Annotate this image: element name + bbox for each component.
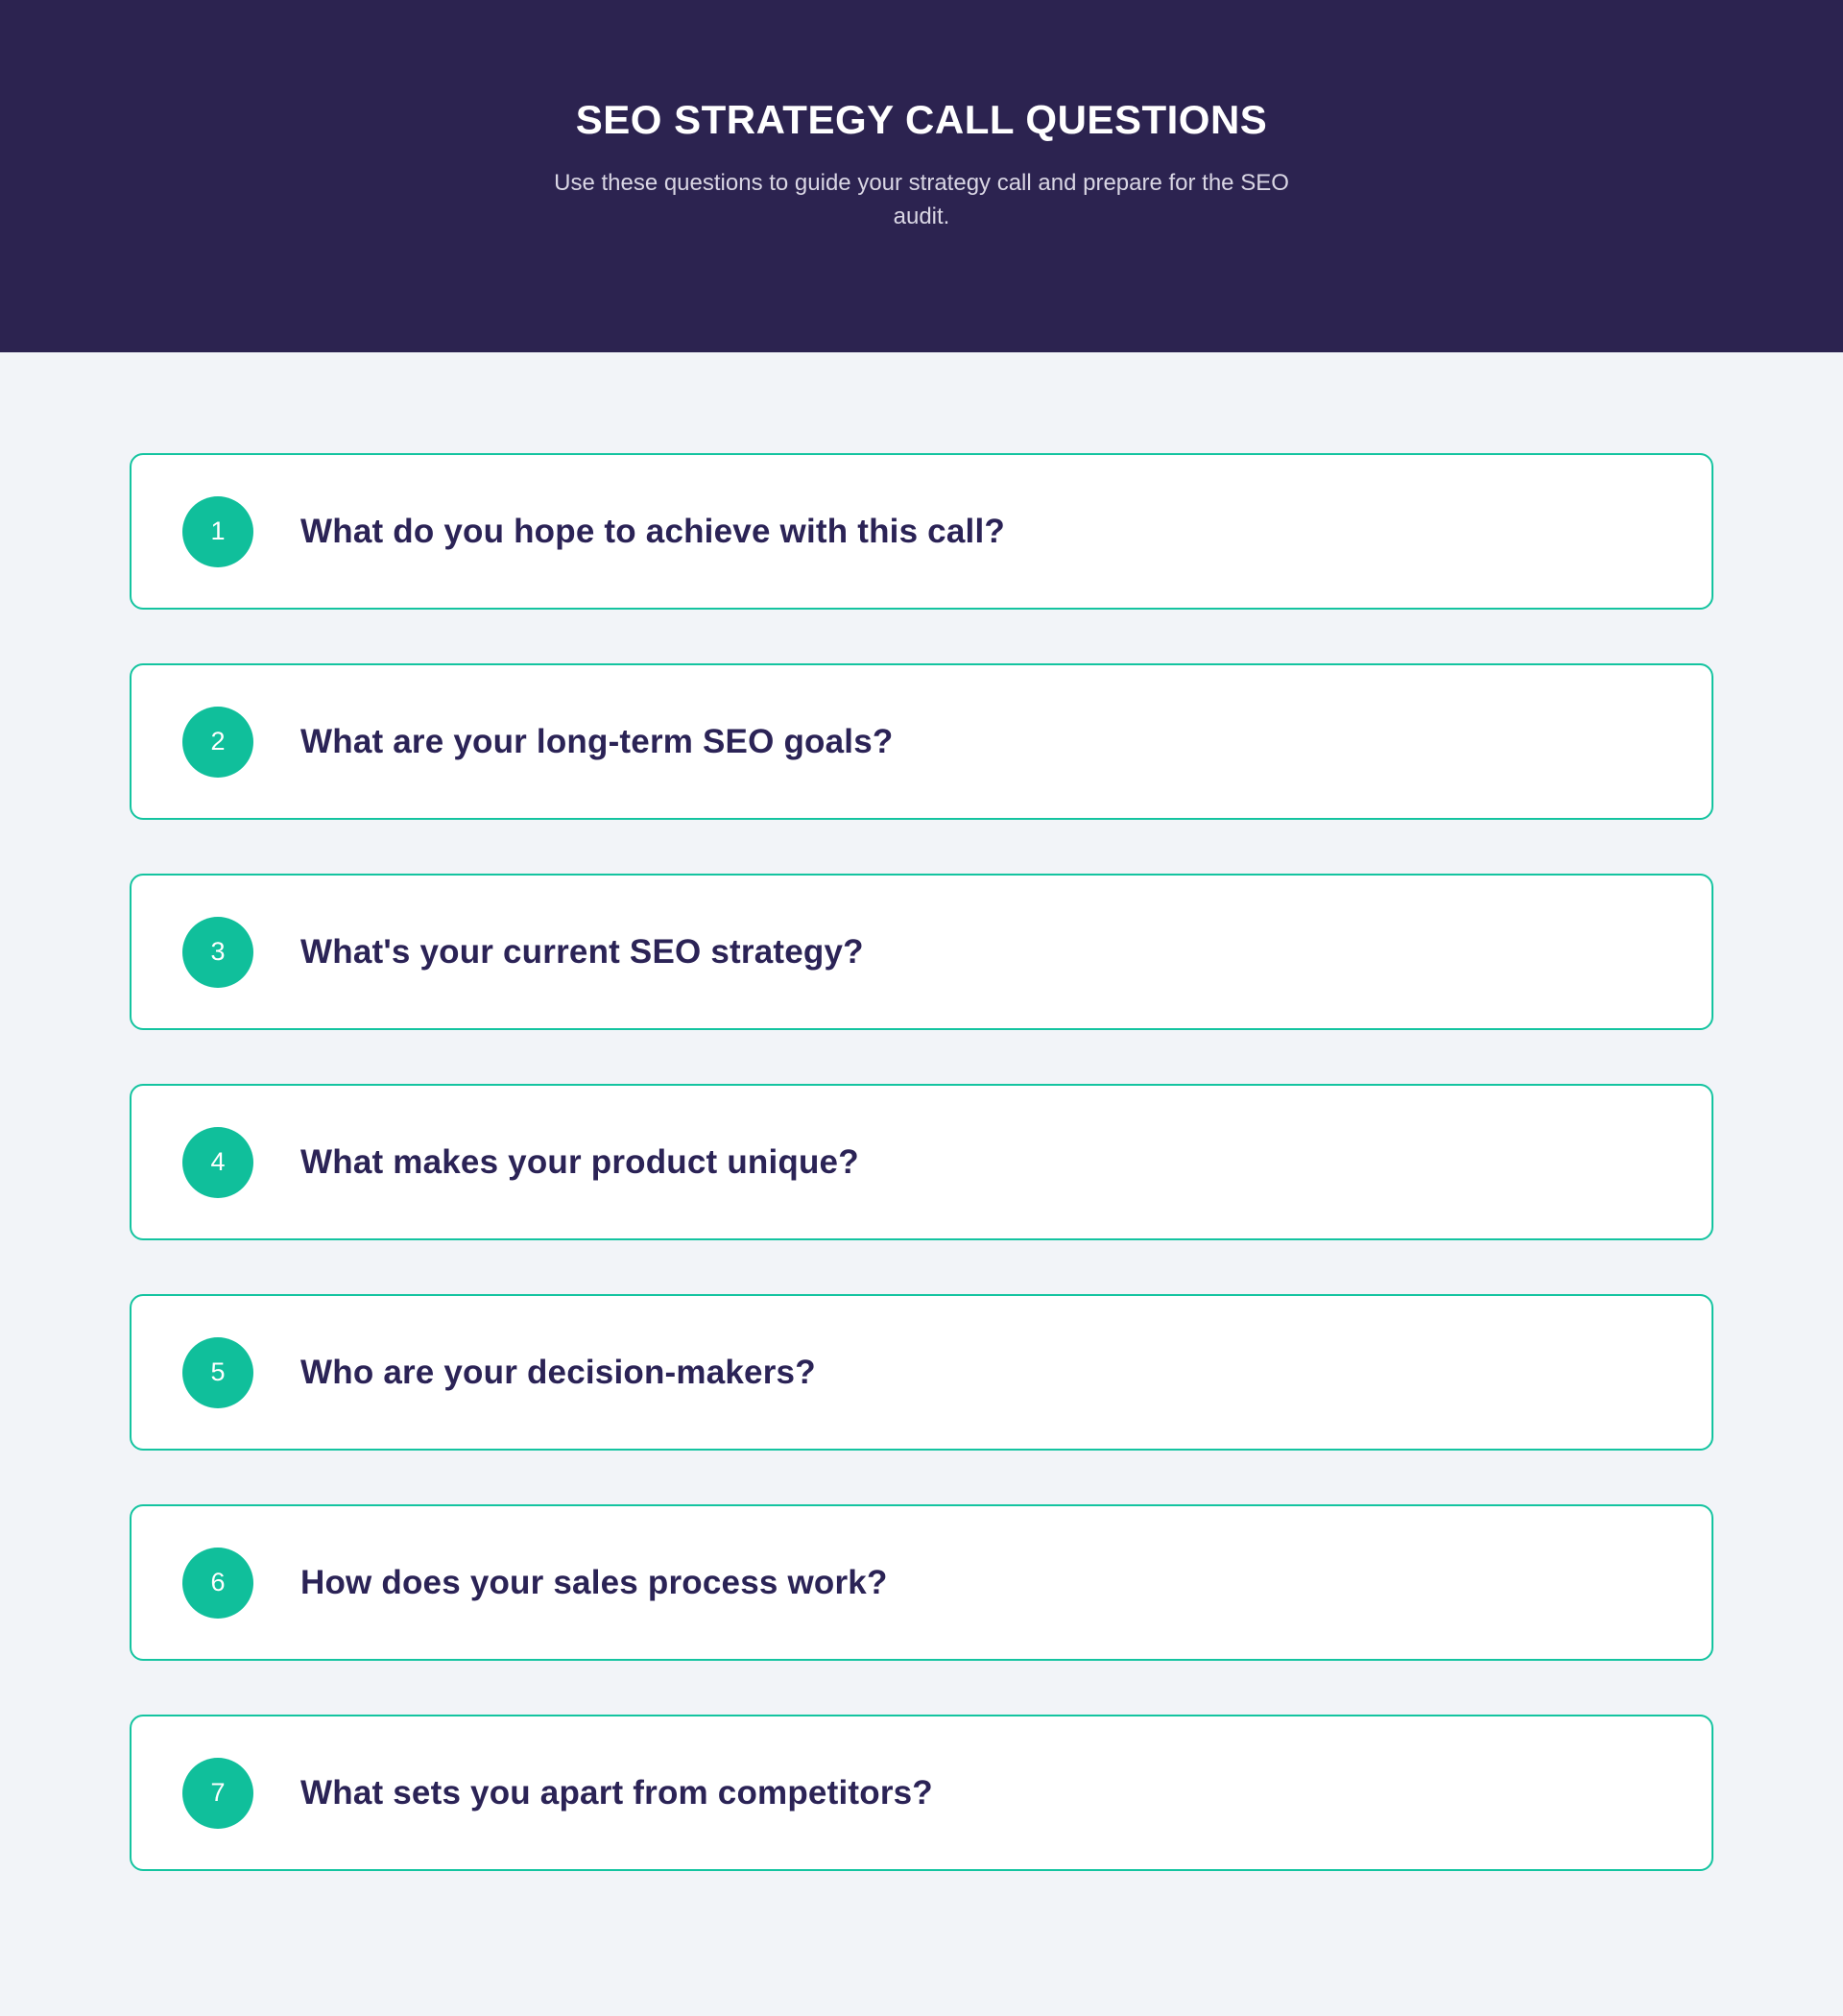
question-text: What sets you apart from competitors? — [300, 1773, 933, 1813]
question-number-badge: 1 — [182, 496, 253, 567]
question-card[interactable]: 2What are your long-term SEO goals? — [130, 663, 1713, 820]
question-card[interactable]: 7What sets you apart from competitors? — [130, 1715, 1713, 1871]
question-number-badge: 5 — [182, 1337, 253, 1408]
question-number-badge: 7 — [182, 1758, 253, 1829]
question-number-badge: 3 — [182, 917, 253, 988]
question-text: What do you hope to achieve with this ca… — [300, 512, 1005, 552]
question-card[interactable]: 3What's your current SEO strategy? — [130, 874, 1713, 1030]
question-number-badge: 6 — [182, 1548, 253, 1619]
question-number-badge: 4 — [182, 1127, 253, 1198]
question-text: What are your long-term SEO goals? — [300, 722, 893, 762]
question-card[interactable]: 6How does your sales process work? — [130, 1504, 1713, 1661]
question-text: Who are your decision-makers? — [300, 1353, 816, 1393]
question-text: What makes your product unique? — [300, 1142, 859, 1183]
seo-strategy-call-questions-page: SEO STRATEGY CALL QUESTIONS Use these qu… — [0, 0, 1843, 2016]
question-card[interactable]: 5Who are your decision-makers? — [130, 1294, 1713, 1451]
question-number-badge: 2 — [182, 707, 253, 778]
page-header: SEO STRATEGY CALL QUESTIONS Use these qu… — [0, 0, 1843, 352]
question-card[interactable]: 1What do you hope to achieve with this c… — [130, 453, 1713, 610]
page-subtitle: Use these questions to guide your strate… — [523, 167, 1320, 234]
question-text: How does your sales process work? — [300, 1563, 888, 1603]
questions-list: 1What do you hope to achieve with this c… — [0, 352, 1843, 1871]
question-text: What's your current SEO strategy? — [300, 932, 864, 972]
page-title: SEO STRATEGY CALL QUESTIONS — [576, 98, 1268, 142]
question-card[interactable]: 4What makes your product unique? — [130, 1084, 1713, 1240]
